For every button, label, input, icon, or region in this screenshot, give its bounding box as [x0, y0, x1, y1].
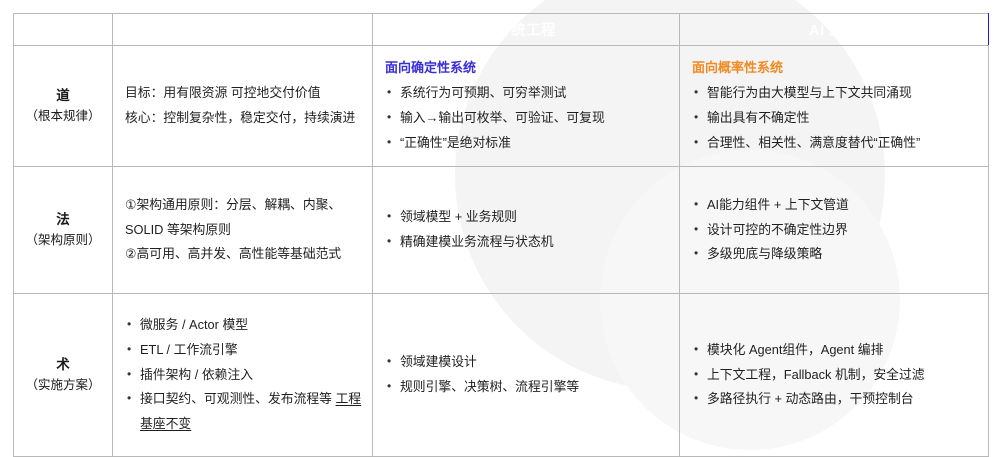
traditional-bullet-list: 领域模型 + 业务规则 精确建模业务流程与状态机: [385, 205, 669, 255]
row-unchanged-cell: 微服务 / Actor 模型 ETL / 工作流引擎 插件架构 / 依赖注入 接…: [113, 294, 373, 457]
table-body: 道 （根本规律） 目标：用有限资源 可控地交付价值 核心：控制复杂性，稳定交付，…: [14, 46, 989, 457]
list-item: 精确建模业务流程与状态机: [385, 230, 669, 255]
unchanged-line: ②高可用、高并发、高性能等基础范式: [125, 242, 362, 267]
traditional-heading: 面向确定性系统: [385, 56, 669, 79]
list-item: 上下文工程，Fallback 机制，安全过滤: [692, 363, 978, 388]
list-item: 模块化 Agent组件，Agent 编排: [692, 338, 978, 363]
list-item: 多级兜底与降级策略: [692, 242, 978, 267]
row-dimension-cell: 法 （架构原则）: [14, 167, 113, 294]
ai-bullet-list: 智能行为由大模型与上下文共同涌现 输出具有不确定性 合理性、相关性、满意度替代“…: [692, 81, 978, 156]
list-item: 设计可控的不确定性边界: [692, 218, 978, 243]
table-row: 法 （架构原则） ①架构通用原则：分层、解耦、内聚、SOLID 等架构原则 ②高…: [14, 167, 989, 294]
dimension-subtitle: （实施方案）: [16, 376, 110, 395]
column-header-traditional: 传统工程: [373, 14, 680, 46]
column-header-dimension: 维度: [14, 14, 113, 46]
row-ai-cell: 面向概率性系统 智能行为由大模型与上下文共同涌现 输出具有不确定性 合理性、相关…: [680, 46, 989, 167]
list-item: 接口契约、可观测性、发布流程等 工程基座不变: [125, 387, 362, 437]
list-item: 输出具有不确定性: [692, 106, 978, 131]
unchanged-line: 目标：用有限资源 可控地交付价值: [125, 81, 362, 106]
list-item: ETL / 工作流引擎: [125, 338, 362, 363]
column-header-unchanged: 不变: [113, 14, 373, 46]
traditional-bullet-list: 系统行为可预期、可穷举测试 输入→输出可枚举、可验证、可复现 “正确性”是绝对标…: [385, 81, 669, 156]
row-traditional-cell: 面向确定性系统 系统行为可预期、可穷举测试 输入→输出可枚举、可验证、可复现 “…: [373, 46, 680, 167]
row-ai-cell: 模块化 Agent组件，Agent 编排 上下文工程，Fallback 机制，安…: [680, 294, 989, 457]
list-item: 规则引擎、决策树、流程引擎等: [385, 375, 669, 400]
dimension-title: 道: [16, 86, 110, 107]
page-canvas: 维度 不变 传统工程 AI 工程 道 （根本规律） 目标：用有限资源 可控地交付…: [0, 0, 1000, 439]
table-header-row: 维度 不变 传统工程 AI 工程: [14, 14, 989, 46]
row-dimension-cell: 道 （根本规律）: [14, 46, 113, 167]
table-row: 道 （根本规律） 目标：用有限资源 可控地交付价值 核心：控制复杂性，稳定交付，…: [14, 46, 989, 167]
comparison-table: 维度 不变 传统工程 AI 工程 道 （根本规律） 目标：用有限资源 可控地交付…: [13, 13, 989, 457]
row-dimension-cell: 术 （实施方案）: [14, 294, 113, 457]
list-item: 领域建模设计: [385, 350, 669, 375]
list-item: AI能力组件 + 上下文管道: [692, 193, 978, 218]
list-item: 多路径执行 + 动态路由，干预控制台: [692, 387, 978, 412]
unchanged-bullet-list: 微服务 / Actor 模型 ETL / 工作流引擎 插件架构 / 依赖注入 接…: [125, 313, 362, 438]
row-unchanged-cell: ①架构通用原则：分层、解耦、内聚、SOLID 等架构原则 ②高可用、高并发、高性…: [113, 167, 373, 294]
dimension-subtitle: （架构原则）: [16, 231, 110, 250]
table-row: 术 （实施方案） 微服务 / Actor 模型 ETL / 工作流引擎 插件架构…: [14, 294, 989, 457]
ai-bullet-list: 模块化 Agent组件，Agent 编排 上下文工程，Fallback 机制，安…: [692, 338, 978, 413]
list-item: 合理性、相关性、满意度替代“正确性”: [692, 131, 978, 156]
list-item: 系统行为可预期、可穷举测试: [385, 81, 669, 106]
list-item: 领域模型 + 业务规则: [385, 205, 669, 230]
row-unchanged-cell: 目标：用有限资源 可控地交付价值 核心：控制复杂性，稳定交付，持续演进: [113, 46, 373, 167]
ai-heading: 面向概率性系统: [692, 56, 978, 79]
list-item: 微服务 / Actor 模型: [125, 313, 362, 338]
dimension-title: 术: [16, 355, 110, 376]
unchanged-line: ①架构通用原则：分层、解耦、内聚、SOLID 等架构原则: [125, 193, 362, 243]
dimension-title: 法: [16, 210, 110, 231]
unchanged-line: 核心：控制复杂性，稳定交付，持续演进: [125, 106, 362, 131]
row-traditional-cell: 领域建模设计 规则引擎、决策树、流程引擎等: [373, 294, 680, 457]
list-item-text: 接口契约、可观测性、发布流程等: [140, 391, 332, 406]
dimension-subtitle: （根本规律）: [16, 107, 110, 126]
list-item: 插件架构 / 依赖注入: [125, 363, 362, 388]
list-item: 智能行为由大模型与上下文共同涌现: [692, 81, 978, 106]
table-header: 维度 不变 传统工程 AI 工程: [14, 14, 989, 46]
ai-bullet-list: AI能力组件 + 上下文管道 设计可控的不确定性边界 多级兜底与降级策略: [692, 193, 978, 268]
row-traditional-cell: 领域模型 + 业务规则 精确建模业务流程与状态机: [373, 167, 680, 294]
row-ai-cell: AI能力组件 + 上下文管道 设计可控的不确定性边界 多级兜底与降级策略: [680, 167, 989, 294]
list-item: 输入→输出可枚举、可验证、可复现: [385, 106, 669, 131]
comparison-table-container: 维度 不变 传统工程 AI 工程 道 （根本规律） 目标：用有限资源 可控地交付…: [13, 13, 988, 457]
column-header-ai: AI 工程: [680, 14, 989, 46]
traditional-bullet-list: 领域建模设计 规则引擎、决策树、流程引擎等: [385, 350, 669, 400]
list-item: “正确性”是绝对标准: [385, 131, 669, 156]
